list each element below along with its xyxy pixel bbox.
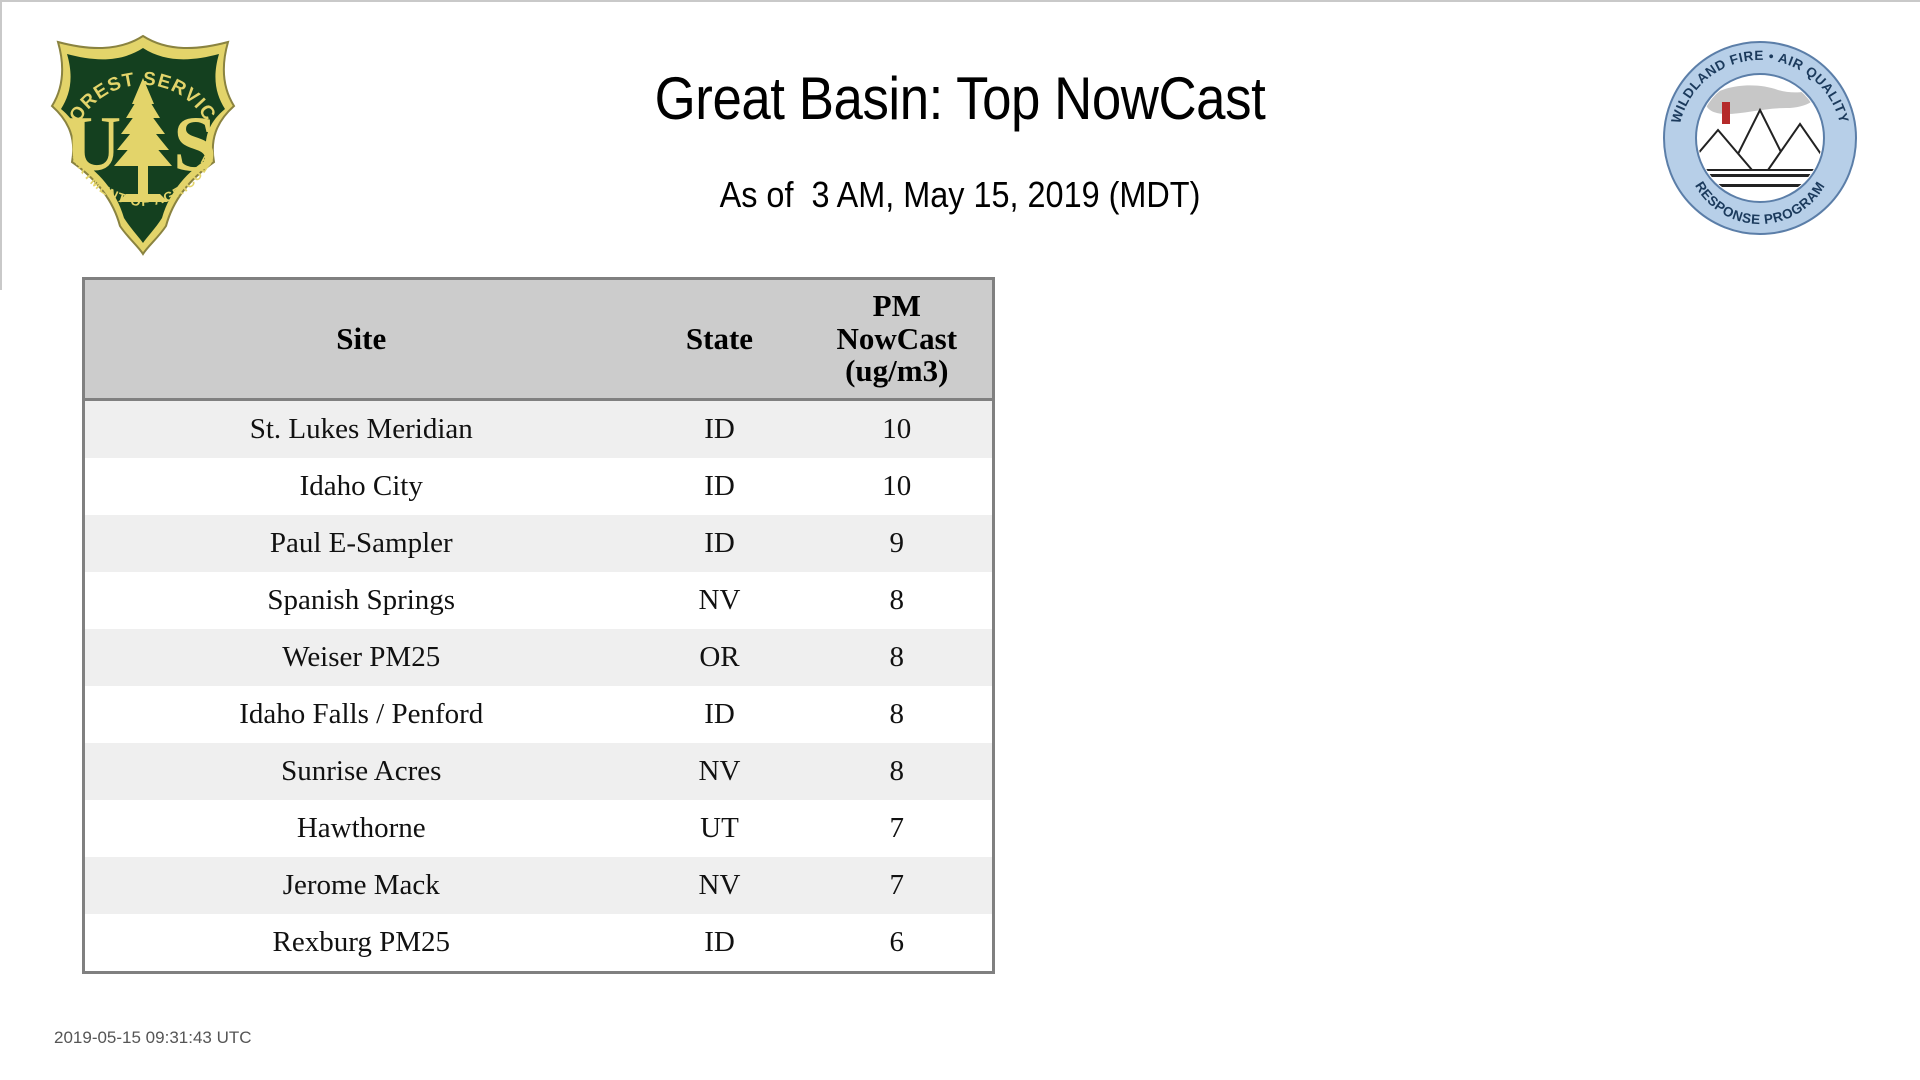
cell-site: Weiser PM25 — [84, 629, 638, 686]
cell-site: St. Lukes Meridian — [84, 400, 638, 459]
column-header-pm-nowcast: PM NowCast (ug/m3) — [802, 279, 994, 400]
table-header-row: Site State PM NowCast (ug/m3) — [84, 279, 994, 400]
table-row: Weiser PM25 OR 8 — [84, 629, 994, 686]
cell-state: ID — [638, 458, 802, 515]
table-row: Rexburg PM25 ID 6 — [84, 914, 994, 973]
table-row: St. Lukes Meridian ID 10 — [84, 400, 994, 459]
table-row: Hawthorne UT 7 — [84, 800, 994, 857]
cell-state: OR — [638, 629, 802, 686]
cell-value: 9 — [802, 515, 994, 572]
cell-site: Sunrise Acres — [84, 743, 638, 800]
column-header-pm-line3: (ug/m3) — [845, 353, 948, 388]
cell-value: 8 — [802, 572, 994, 629]
cell-state: UT — [638, 800, 802, 857]
table-body: St. Lukes Meridian ID 10 Idaho City ID 1… — [84, 400, 994, 973]
cell-state: NV — [638, 743, 802, 800]
column-header-state: State — [638, 279, 802, 400]
column-header-pm-line2: NowCast — [836, 321, 957, 356]
cell-site: Hawthorne — [84, 800, 638, 857]
page-subtitle: As of 3 AM, May 15, 2019 (MDT) — [96, 174, 1824, 216]
cell-site: Idaho Falls / Penford — [84, 686, 638, 743]
column-header-site: Site — [84, 279, 638, 400]
table-row: Sunrise Acres NV 8 — [84, 743, 994, 800]
table-header: Site State PM NowCast (ug/m3) — [84, 279, 994, 400]
table-row: Jerome Mack NV 7 — [84, 857, 994, 914]
cell-site: Paul E-Sampler — [84, 515, 638, 572]
footer-timestamp: 2019-05-15 09:31:43 UTC — [54, 1028, 252, 1048]
cell-state: ID — [638, 914, 802, 973]
page-title: Great Basin: Top NowCast — [115, 64, 1805, 133]
cell-value: 10 — [802, 458, 994, 515]
cell-site: Rexburg PM25 — [84, 914, 638, 973]
cell-value: 10 — [802, 400, 994, 459]
cell-state: NV — [638, 572, 802, 629]
page-left-border — [0, 0, 2, 290]
cell-site: Spanish Springs — [84, 572, 638, 629]
cell-value: 6 — [802, 914, 994, 973]
page-top-border — [0, 0, 1920, 2]
cell-value: 7 — [802, 857, 994, 914]
cell-state: NV — [638, 857, 802, 914]
cell-value: 8 — [802, 743, 994, 800]
column-header-site-label: Site — [336, 321, 386, 356]
cell-state: ID — [638, 686, 802, 743]
table-row: Spanish Springs NV 8 — [84, 572, 994, 629]
cell-site: Jerome Mack — [84, 857, 638, 914]
cell-state: ID — [638, 400, 802, 459]
nowcast-table: Site State PM NowCast (ug/m3) St. Lukes … — [82, 277, 995, 974]
cell-value: 7 — [802, 800, 994, 857]
column-header-pm-line1: PM — [873, 288, 921, 323]
cell-site: Idaho City — [84, 458, 638, 515]
table-row: Idaho Falls / Penford ID 8 — [84, 686, 994, 743]
cell-value: 8 — [802, 629, 994, 686]
column-header-state-label: State — [686, 321, 753, 356]
cell-state: ID — [638, 515, 802, 572]
nowcast-table-container: Site State PM NowCast (ug/m3) St. Lukes … — [82, 277, 992, 974]
cell-value: 8 — [802, 686, 994, 743]
table-row: Paul E-Sampler ID 9 — [84, 515, 994, 572]
table-row: Idaho City ID 10 — [84, 458, 994, 515]
